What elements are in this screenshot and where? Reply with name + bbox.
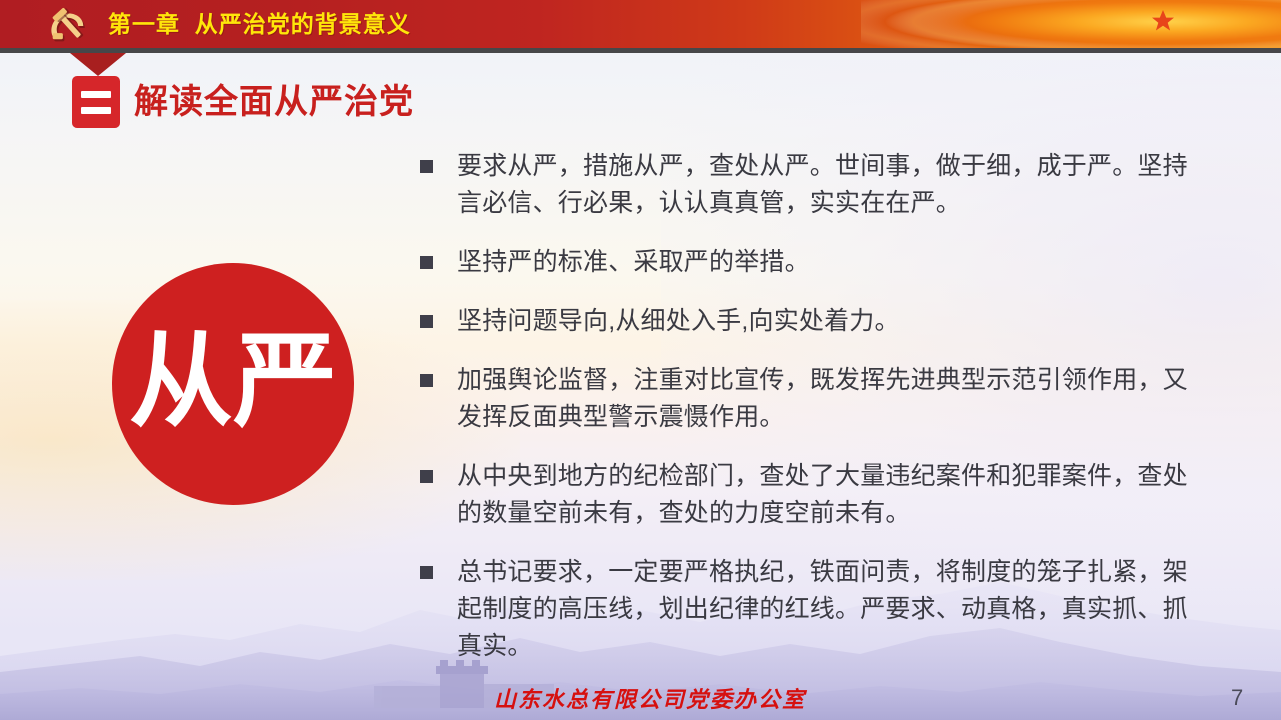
square-bullet-icon bbox=[420, 470, 433, 483]
page-number: 7 bbox=[1231, 684, 1243, 712]
header-banner: 第一章 从严治党的背景意义 bbox=[0, 0, 1281, 48]
list-item: 坚持问题导向,从细处入手,向实处着力。 bbox=[420, 303, 1210, 340]
square-bullet-icon bbox=[420, 160, 433, 173]
footer-organization-name: 山东水总有限公司党委办公室 bbox=[494, 686, 806, 714]
list-item-text: 总书记要求，一定要严格执纪，铁面问责，将制度的笼子扎紧，架起制度的高压线，划出纪… bbox=[457, 554, 1210, 665]
emphasis-circle-badge: 从严 bbox=[112, 263, 354, 505]
hammer-sickle-emblem bbox=[38, 2, 100, 46]
list-item: 要求从严，措施从严，查处从严。世间事，做于细，成于严。坚持言必信、行必果，认认真… bbox=[420, 148, 1210, 222]
emphasis-circle-label: 从严 bbox=[129, 330, 337, 434]
square-bullet-icon bbox=[420, 256, 433, 269]
section-number-badge bbox=[72, 76, 120, 128]
bullet-list: 要求从严，措施从严，查处从严。世间事，做于细，成于严。坚持言必信、行必果，认认真… bbox=[420, 148, 1210, 687]
list-item-text: 坚持问题导向,从细处入手,向实处着力。 bbox=[457, 303, 1210, 340]
list-item: 从中央到地方的纪检部门，查处了大量违纪案件和犯罪案件，查处的数量空前未有，查处的… bbox=[420, 458, 1210, 532]
badge-bar-bottom bbox=[81, 107, 111, 114]
list-item-text: 坚持严的标准、采取严的举措。 bbox=[457, 244, 1210, 281]
triangle-down-icon bbox=[70, 53, 126, 76]
starburst-decoration bbox=[861, 0, 1281, 48]
list-item: 总书记要求，一定要严格执纪，铁面问责，将制度的笼子扎紧，架起制度的高压线，划出纪… bbox=[420, 554, 1210, 665]
section-title: 解读全面从严治党 bbox=[134, 80, 414, 124]
list-item-text: 从中央到地方的纪检部门，查处了大量违纪案件和犯罪案件，查处的数量空前未有，查处的… bbox=[457, 458, 1210, 532]
chapter-title: 第一章 从严治党的背景意义 bbox=[108, 9, 411, 39]
list-item: 坚持严的标准、采取严的举措。 bbox=[420, 244, 1210, 281]
badge-bar-top bbox=[81, 91, 111, 98]
list-item: 加强舆论监督，注重对比宣传，既发挥先进典型示范引领作用，又发挥反面典型警示震慑作… bbox=[420, 362, 1210, 436]
square-bullet-icon bbox=[420, 315, 433, 328]
square-bullet-icon bbox=[420, 374, 433, 387]
header-underline bbox=[0, 48, 1281, 53]
list-item-text: 加强舆论监督，注重对比宣传，既发挥先进典型示范引领作用，又发挥反面典型警示震慑作… bbox=[457, 362, 1210, 436]
slide: 第一章 从严治党的背景意义 解读全面从严治党 从严 要求从严，措施从严，查处从严… bbox=[0, 0, 1281, 720]
list-item-text: 要求从严，措施从严，查处从严。世间事，做于细，成于严。坚持言必信、行必果，认认真… bbox=[457, 148, 1210, 222]
square-bullet-icon bbox=[420, 566, 433, 579]
